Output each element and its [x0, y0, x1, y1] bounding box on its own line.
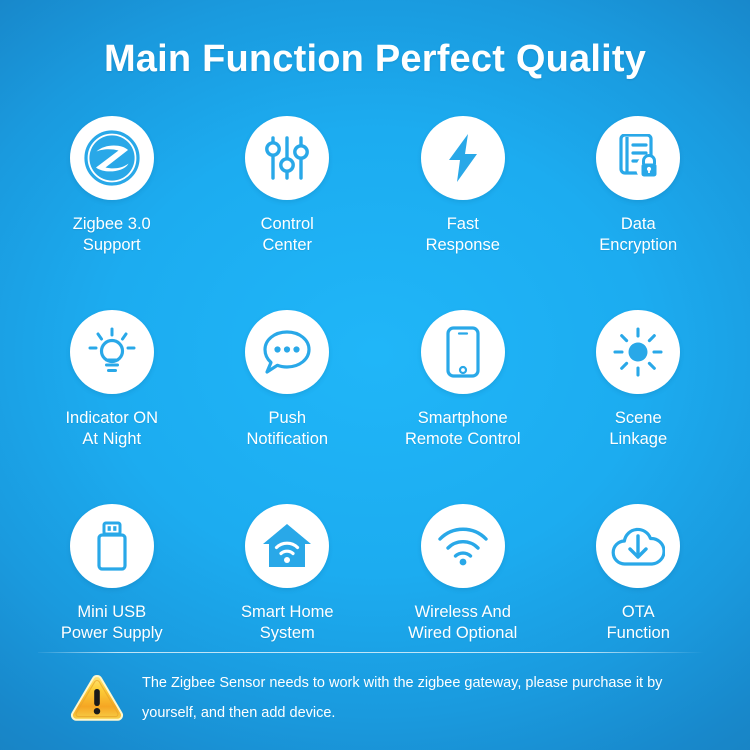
feature-item-smart-home-system[interactable]: Smart Home System [200, 504, 376, 644]
icon-badge [245, 504, 329, 588]
feature-label: Fast Response [426, 214, 500, 256]
usb-plug-icon [95, 521, 129, 571]
feature-item-data-encryption[interactable]: Data Encryption [551, 116, 727, 256]
footer-note-text: The Zigbee Sensor needs to work with the… [142, 668, 682, 728]
icon-badge [70, 504, 154, 588]
icon-badge [596, 116, 680, 200]
feature-item-push-notification[interactable]: Push Notification [200, 310, 376, 450]
feature-label: Indicator ON At Night [65, 408, 158, 450]
page-title: Main Function Perfect Quality [0, 38, 750, 81]
lightning-bolt-icon [446, 134, 480, 182]
icon-badge [245, 116, 329, 200]
chat-bubble-icon [262, 329, 312, 375]
feature-label: Smartphone Remote Control [405, 408, 521, 450]
icon-badge [245, 310, 329, 394]
feature-label: Mini USB Power Supply [61, 602, 163, 644]
document-lock-icon [615, 134, 661, 182]
feature-label: OTA Function [607, 602, 670, 644]
wifi-signal-icon [437, 526, 489, 566]
feature-label: Control Center [261, 214, 314, 256]
promo-banner: Main Function Perfect Quality Zigbee 3.0… [0, 0, 750, 750]
feature-grid: Zigbee 3.0 Support [24, 116, 726, 644]
warning-triangle-icon [70, 674, 124, 727]
feature-label: Wireless And Wired Optional [408, 602, 517, 644]
icon-badge [70, 310, 154, 394]
feature-item-smartphone-remote-control[interactable]: Smartphone Remote Control [375, 310, 551, 450]
feature-label: Smart Home System [241, 602, 334, 644]
zigbee-logo-icon [83, 129, 141, 187]
feature-item-fast-response[interactable]: Fast Response [375, 116, 551, 256]
feature-item-control-center[interactable]: Control Center [200, 116, 376, 256]
feature-item-ota-function[interactable]: OTA Function [551, 504, 727, 644]
house-wifi-icon [261, 522, 313, 570]
icon-badge [70, 116, 154, 200]
feature-item-indicator-on-at-night[interactable]: Indicator ON At Night [24, 310, 200, 450]
feature-label: Scene Linkage [609, 408, 667, 450]
light-bulb-icon [87, 327, 137, 377]
icon-badge [421, 310, 505, 394]
smartphone-icon [446, 326, 480, 378]
feature-item-mini-usb-power-supply[interactable]: Mini USB Power Supply [24, 504, 200, 644]
icon-badge [596, 310, 680, 394]
feature-item-zigbee-support[interactable]: Zigbee 3.0 Support [24, 116, 200, 256]
sun-icon [613, 327, 663, 377]
icon-badge [596, 504, 680, 588]
cloud-download-icon [611, 524, 665, 568]
feature-label: Push Notification [246, 408, 328, 450]
footer-note: The Zigbee Sensor needs to work with the… [70, 668, 690, 728]
footer-divider [38, 652, 704, 653]
icon-badge [421, 116, 505, 200]
feature-item-scene-linkage[interactable]: Scene Linkage [551, 310, 727, 450]
sliders-control-icon [265, 135, 309, 181]
feature-label: Zigbee 3.0 Support [73, 214, 151, 256]
feature-label: Data Encryption [599, 214, 677, 256]
feature-item-wireless-and-wired-optional[interactable]: Wireless And Wired Optional [375, 504, 551, 644]
icon-badge [421, 504, 505, 588]
